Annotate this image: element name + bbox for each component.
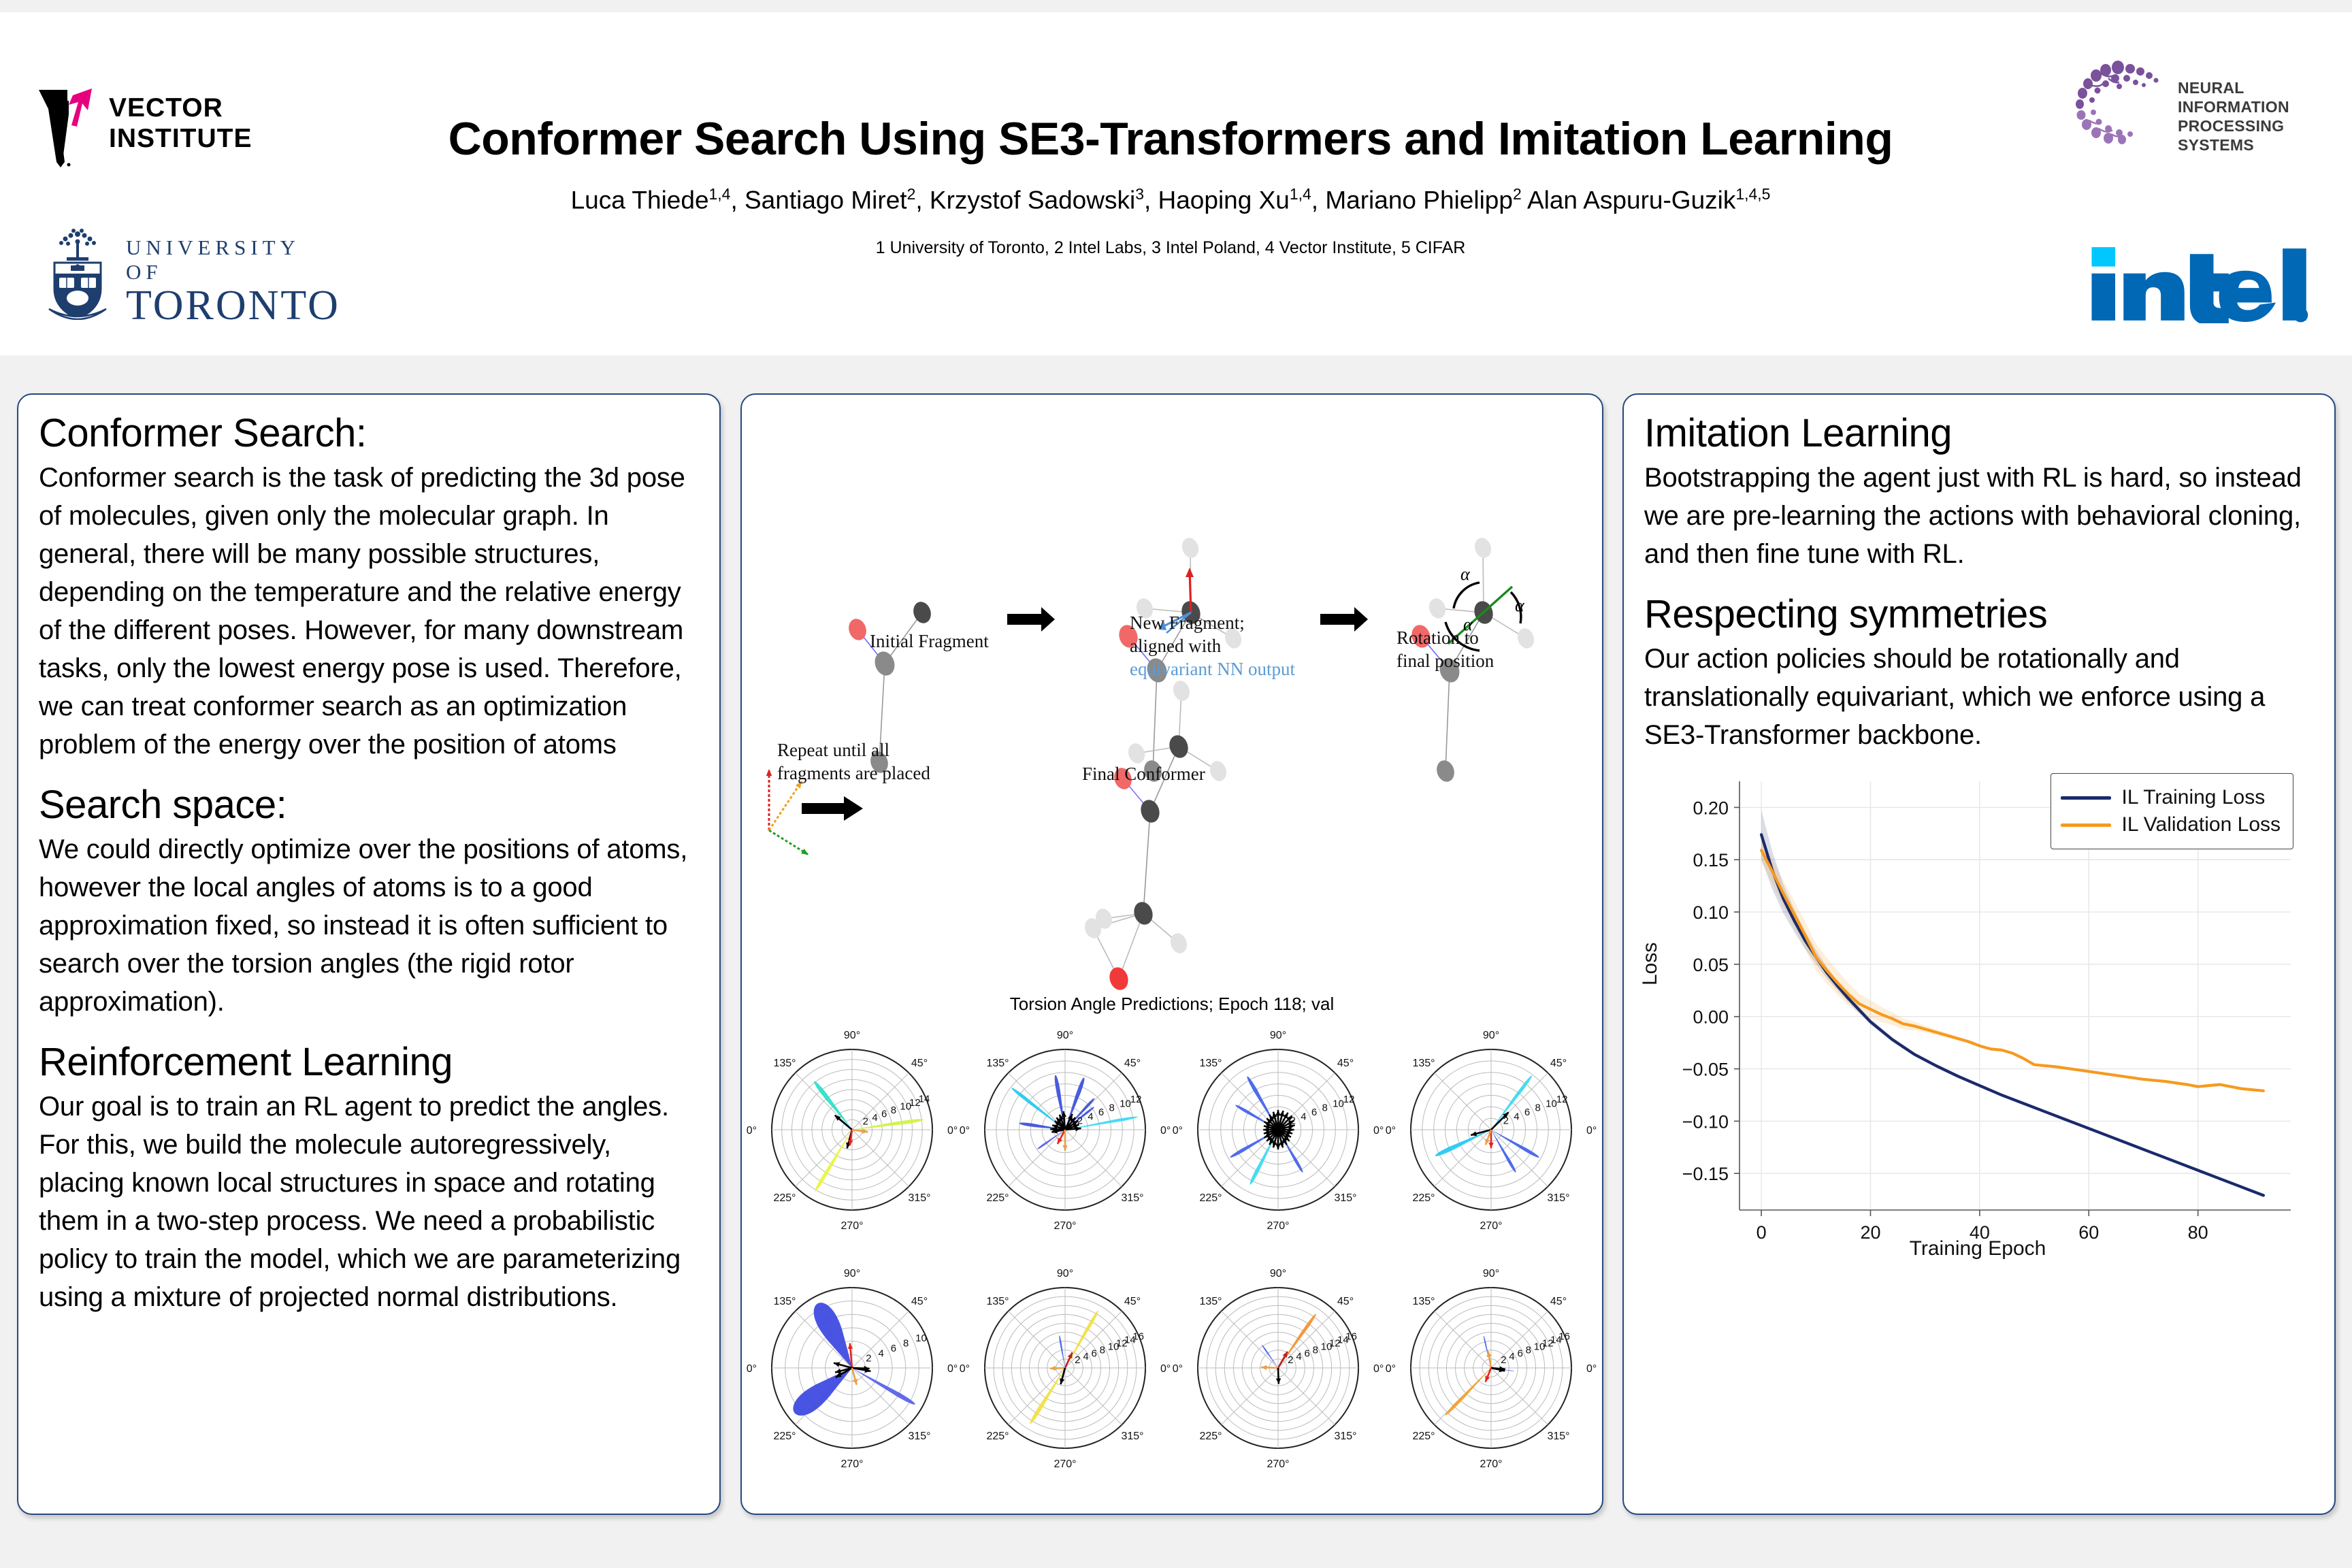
diagram-label-repeat-1: Repeat until all (777, 738, 889, 762)
svg-text:135°: 135° (1199, 1296, 1222, 1307)
svg-text:8: 8 (903, 1338, 909, 1350)
svg-text:90°: 90° (1483, 1030, 1499, 1041)
section-heading-respecting-symmetries: Respecting symmetries (1644, 592, 2314, 637)
pipeline-diagram: ααα Initial Fragment New Fragment; align… (742, 395, 1602, 994)
uoft-crest-icon (41, 225, 114, 320)
svg-text:0°: 0° (1160, 1363, 1171, 1375)
neurips-swirl-icon (2076, 58, 2178, 146)
svg-text:0°: 0° (947, 1125, 958, 1137)
svg-text:2: 2 (1075, 1354, 1080, 1366)
polar-plot-4: 0°45°90°135°180°225°270°315°24681012 (1385, 1013, 1598, 1251)
vector-logo-line2: INSTITUTE (109, 123, 252, 154)
section-heading-imitation-learning: Imitation Learning (1644, 411, 2314, 456)
loss-curve-chart: 0.200.150.100.050.00−0.05−0.10−0.1502040… (1644, 761, 2311, 1271)
svg-text:315°: 315° (1334, 1192, 1356, 1204)
svg-text:6: 6 (1098, 1107, 1104, 1118)
section-body-reinforcement-learning: Our goal is to train an RL agent to pred… (39, 1088, 699, 1316)
chart-x-axis-label: Training Epoch (1644, 1237, 2311, 1260)
svg-text:α: α (1460, 564, 1471, 584)
svg-text:6: 6 (881, 1108, 887, 1120)
svg-text:45°: 45° (1337, 1296, 1354, 1307)
svg-text:45°: 45° (1337, 1058, 1354, 1069)
vector-logo-text: VECTOR INSTITUTE (109, 93, 252, 154)
diagram-label-repeat-2: fragments are placed (777, 762, 930, 785)
page-title: Conformer Search Using SE3-Transformers … (293, 112, 2048, 165)
svg-text:180°: 180° (1385, 1125, 1396, 1137)
polar-figure-title: Torsion Angle Predictions; Epoch 118; va… (742, 994, 1602, 1015)
molecule-pipeline-svg: ααα (742, 395, 1602, 994)
section-heading-search-space: Search space: (39, 783, 699, 828)
diagram-label-final-conformer: Final Conformer (1082, 762, 1205, 785)
polar-plot-2: 0°45°90°135°180°225°270°315°24681012 (959, 1013, 1172, 1251)
polar-plot-svg-3: 0°45°90°135°180°225°270°315°24681012 (1172, 1013, 1385, 1251)
svg-text:10: 10 (1333, 1098, 1344, 1109)
svg-text:4: 4 (872, 1112, 877, 1124)
svg-text:16: 16 (1558, 1331, 1570, 1343)
svg-text:0.15: 0.15 (1693, 850, 1729, 870)
svg-text:10: 10 (915, 1333, 927, 1344)
svg-text:0°: 0° (1373, 1125, 1384, 1137)
affiliation-list: 1 University of Toronto, 2 Intel Labs, 3… (293, 238, 2048, 258)
svg-text:270°: 270° (840, 1220, 863, 1232)
vector-institute-logo: VECTOR INSTITUTE (37, 87, 303, 169)
svg-text:12: 12 (1130, 1094, 1142, 1105)
svg-text:225°: 225° (1412, 1431, 1435, 1442)
svg-text:225°: 225° (773, 1192, 796, 1204)
svg-text:6: 6 (1517, 1347, 1522, 1359)
svg-text:2: 2 (1501, 1354, 1506, 1366)
svg-text:180°: 180° (746, 1125, 757, 1137)
svg-text:225°: 225° (986, 1192, 1009, 1204)
svg-text:90°: 90° (1270, 1030, 1286, 1041)
diagram-label-equivariant-nn-output: equivariant NN output (1130, 657, 1295, 681)
svg-text:270°: 270° (1267, 1458, 1289, 1470)
svg-text:0°: 0° (1160, 1125, 1171, 1137)
polar-plot-svg-2: 0°45°90°135°180°225°270°315°24681012 (959, 1013, 1172, 1251)
section-body-conformer-search: Conformer search is the task of predicti… (39, 459, 699, 764)
svg-text:2: 2 (866, 1353, 871, 1365)
svg-text:225°: 225° (986, 1431, 1009, 1442)
svg-text:180°: 180° (959, 1125, 970, 1137)
svg-text:2: 2 (1503, 1115, 1509, 1127)
svg-text:90°: 90° (1270, 1268, 1286, 1279)
svg-text:135°: 135° (986, 1058, 1009, 1069)
svg-text:6: 6 (891, 1343, 896, 1354)
svg-text:315°: 315° (908, 1431, 930, 1442)
svg-text:4: 4 (1301, 1111, 1306, 1122)
polar-plot-svg-4: 0°45°90°135°180°225°270°315°24681012 (1385, 1013, 1598, 1251)
section-heading-reinforcement-learning: Reinforcement Learning (39, 1040, 699, 1085)
svg-text:180°: 180° (1385, 1363, 1396, 1375)
svg-text:315°: 315° (1334, 1431, 1356, 1442)
vector-v-icon (37, 87, 95, 167)
svg-text:270°: 270° (1480, 1220, 1502, 1232)
svg-text:90°: 90° (1057, 1030, 1073, 1041)
svg-text:135°: 135° (986, 1296, 1009, 1307)
chart-y-axis-label: Loss (1639, 943, 1662, 985)
svg-text:4: 4 (1509, 1351, 1514, 1362)
svg-text:R: R (2298, 311, 2304, 321)
svg-text:α: α (1515, 595, 1525, 615)
polar-plot-svg-5: 0°45°90°135°180°225°270°315°246810 (746, 1251, 959, 1489)
svg-text:180°: 180° (1172, 1363, 1183, 1375)
svg-text:270°: 270° (1267, 1220, 1289, 1232)
svg-text:225°: 225° (773, 1431, 796, 1442)
svg-text:−0.15: −0.15 (1682, 1164, 1729, 1184)
neurips-logo: NEURAL INFORMATION PROCESSING SYSTEMS (2076, 58, 2321, 146)
neurips-logo-text: NEURAL INFORMATION PROCESSING SYSTEMS (2178, 78, 2321, 154)
svg-text:315°: 315° (1547, 1431, 1569, 1442)
svg-text:225°: 225° (1412, 1192, 1435, 1204)
diagram-label-rotation-2: final position (1396, 649, 1494, 672)
svg-text:6: 6 (1524, 1107, 1530, 1118)
svg-text:135°: 135° (1199, 1058, 1222, 1069)
legend-swatch-training (2061, 796, 2111, 800)
poster-header: VECTOR INSTITUTE (0, 0, 2352, 355)
polar-plot-svg-1: 0°45°90°135°180°225°270°315°2468101214 (746, 1013, 959, 1251)
svg-text:45°: 45° (1550, 1058, 1567, 1069)
svg-text:−0.05: −0.05 (1682, 1060, 1729, 1080)
svg-text:45°: 45° (1124, 1058, 1141, 1069)
svg-text:270°: 270° (1480, 1458, 1502, 1470)
svg-text:10: 10 (1546, 1098, 1557, 1109)
svg-text:225°: 225° (1199, 1431, 1222, 1442)
svg-text:4: 4 (878, 1347, 883, 1359)
legend-item-training: IL Training Loss (2061, 786, 2281, 809)
diagram-label-new-fragment-1: New Fragment; (1130, 611, 1245, 634)
svg-text:−0.10: −0.10 (1682, 1111, 1729, 1132)
polar-plot-7: 0°45°90°135°180°225°270°315°246810121416 (1172, 1251, 1385, 1489)
intel-wordmark-icon: R (2079, 242, 2310, 323)
svg-text:14: 14 (919, 1093, 930, 1105)
polar-plot-1: 0°45°90°135°180°225°270°315°2468101214 (746, 1013, 959, 1251)
legend-label-training: IL Training Loss (2122, 786, 2266, 809)
svg-text:270°: 270° (840, 1458, 863, 1470)
svg-text:225°: 225° (1199, 1192, 1222, 1204)
svg-text:8: 8 (1109, 1102, 1115, 1114)
legend-item-validation: IL Validation Loss (2061, 813, 2281, 836)
svg-text:0.10: 0.10 (1693, 902, 1729, 923)
svg-text:90°: 90° (1483, 1268, 1499, 1279)
uoft-logo-line2: TORONTO (126, 284, 340, 327)
svg-text:270°: 270° (1053, 1220, 1076, 1232)
svg-text:90°: 90° (1057, 1268, 1073, 1279)
legend-label-validation: IL Validation Loss (2122, 813, 2281, 836)
diagram-label-rotation-1: Rotation to (1396, 626, 1479, 649)
svg-text:16: 16 (1345, 1331, 1357, 1343)
polar-plot-3: 0°45°90°135°180°225°270°315°24681012 (1172, 1013, 1385, 1251)
svg-text:2: 2 (1288, 1354, 1293, 1366)
svg-text:8: 8 (1322, 1102, 1328, 1114)
svg-text:8: 8 (1535, 1102, 1541, 1114)
svg-text:10: 10 (1120, 1098, 1131, 1109)
chart-legend: IL Training Loss IL Validation Loss (2051, 773, 2293, 849)
neurips-logo-line2: PROCESSING SYSTEMS (2178, 116, 2321, 154)
top-strip (0, 0, 2352, 12)
svg-text:135°: 135° (1412, 1296, 1435, 1307)
svg-text:8: 8 (1100, 1344, 1105, 1356)
svg-text:315°: 315° (908, 1192, 930, 1204)
svg-text:2: 2 (1290, 1115, 1296, 1127)
svg-text:6: 6 (1304, 1347, 1309, 1359)
svg-text:4: 4 (1083, 1351, 1088, 1362)
svg-text:45°: 45° (1550, 1296, 1567, 1307)
svg-text:45°: 45° (1124, 1296, 1141, 1307)
svg-text:0°: 0° (947, 1363, 958, 1375)
polar-plot-grid: 0°45°90°135°180°225°270°315°24681012140°… (746, 1013, 1599, 1489)
section-body-imitation-learning: Bootstrapping the agent just with RL is … (1644, 459, 2314, 573)
svg-text:45°: 45° (911, 1296, 928, 1307)
polar-plot-svg-6: 0°45°90°135°180°225°270°315°246810121416 (959, 1251, 1172, 1489)
svg-text:0.05: 0.05 (1693, 955, 1729, 975)
svg-text:135°: 135° (1412, 1058, 1435, 1069)
diagram-label-new-fragment-2: aligned with (1130, 634, 1221, 657)
section-body-respecting-symmetries: Our action policies should be rotational… (1644, 640, 2314, 754)
svg-text:90°: 90° (844, 1030, 860, 1041)
left-content-panel: Conformer Search: Conformer search is th… (17, 393, 721, 1515)
svg-text:16: 16 (1132, 1331, 1144, 1343)
svg-text:8: 8 (1526, 1344, 1531, 1356)
svg-text:0°: 0° (1373, 1363, 1384, 1375)
section-body-search-space: We could directly optimize over the posi… (39, 830, 699, 1021)
svg-text:4: 4 (1088, 1111, 1093, 1122)
svg-text:135°: 135° (773, 1058, 796, 1069)
polar-plot-svg-7: 0°45°90°135°180°225°270°315°246810121416 (1172, 1251, 1385, 1489)
svg-text:8: 8 (891, 1105, 896, 1116)
svg-text:6: 6 (1311, 1107, 1317, 1118)
svg-text:315°: 315° (1547, 1192, 1569, 1204)
polar-plot-8: 0°45°90°135°180°225°270°315°246810121416 (1385, 1251, 1598, 1489)
svg-text:6: 6 (1091, 1347, 1096, 1359)
svg-text:0°: 0° (1586, 1125, 1597, 1137)
svg-text:4: 4 (1514, 1111, 1519, 1122)
neurips-logo-line1: NEURAL INFORMATION (2178, 78, 2321, 116)
svg-text:0°: 0° (1586, 1363, 1597, 1375)
diagram-label-initial-fragment: Initial Fragment (870, 630, 989, 653)
middle-figure-panel: ααα Initial Fragment New Fragment; align… (740, 393, 1603, 1515)
legend-swatch-validation (2061, 823, 2111, 827)
svg-text:180°: 180° (746, 1363, 757, 1375)
svg-text:2: 2 (863, 1115, 868, 1127)
svg-text:8: 8 (1313, 1344, 1318, 1356)
svg-text:2: 2 (1077, 1115, 1083, 1127)
section-heading-conformer-search: Conformer Search: (39, 411, 699, 456)
svg-text:90°: 90° (844, 1268, 860, 1279)
author-list: Luca Thiede1,4, Santiago Miret2, Krzysto… (293, 185, 2048, 214)
svg-text:315°: 315° (1121, 1431, 1143, 1442)
intel-logo: R (2079, 242, 2324, 327)
polar-plot-6: 0°45°90°135°180°225°270°315°246810121416 (959, 1251, 1172, 1489)
svg-text:315°: 315° (1121, 1192, 1143, 1204)
svg-text:180°: 180° (1172, 1125, 1183, 1137)
svg-text:180°: 180° (959, 1363, 970, 1375)
svg-text:0.00: 0.00 (1693, 1007, 1729, 1028)
polar-plot-svg-8: 0°45°90°135°180°225°270°315°246810121416 (1385, 1251, 1598, 1489)
polar-plot-5: 0°45°90°135°180°225°270°315°246810 (746, 1251, 959, 1489)
svg-text:135°: 135° (773, 1296, 796, 1307)
vector-logo-line1: VECTOR (109, 93, 252, 123)
svg-text:45°: 45° (911, 1058, 928, 1069)
svg-text:4: 4 (1296, 1351, 1301, 1362)
svg-text:12: 12 (1343, 1094, 1355, 1105)
svg-text:12: 12 (1556, 1094, 1568, 1105)
svg-text:0.20: 0.20 (1693, 798, 1729, 818)
right-content-panel: Imitation Learning Bootstrapping the age… (1622, 393, 2336, 1515)
svg-text:270°: 270° (1053, 1458, 1076, 1470)
